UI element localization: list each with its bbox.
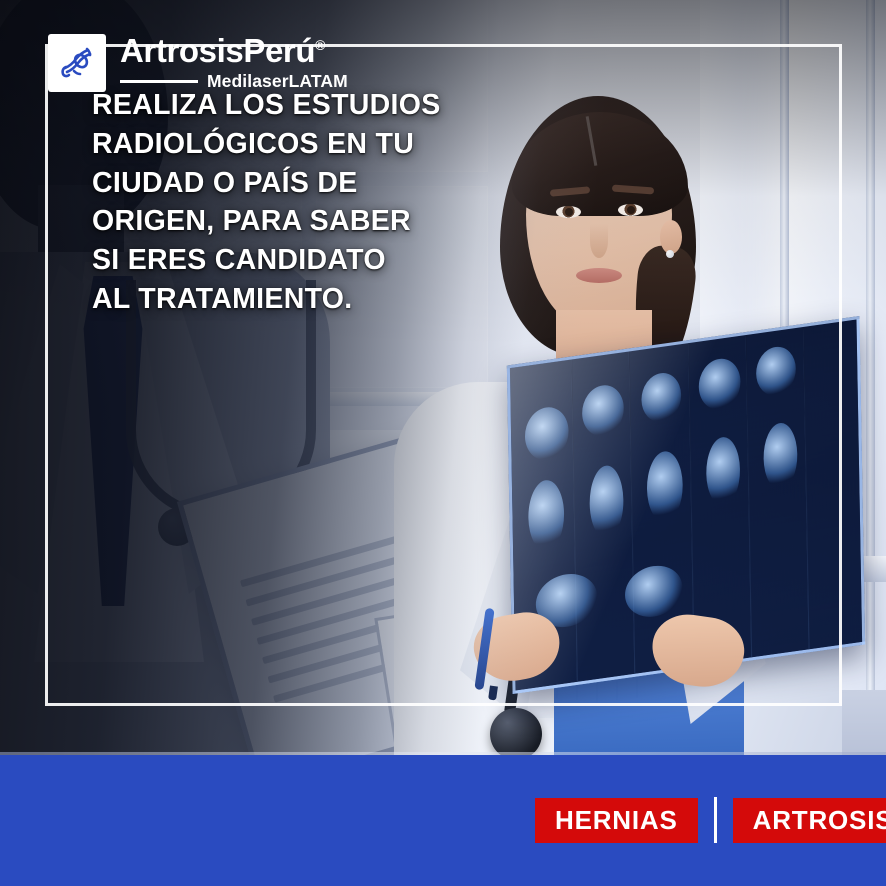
headline-line-2: RADIOLÓGICOS EN TU [92,125,472,164]
promo-poster: REALIZA LOS ESTUDIOS RADIOLÓGICOS EN TU … [0,0,886,886]
brand-logo[interactable]: ArtrosisPerú® MedilaserLATAM [48,34,348,92]
knee-joint-icon [48,34,106,92]
registered-mark: ® [315,37,325,53]
logo-rule [120,80,198,83]
logo-text-block: ArtrosisPerú® MedilaserLATAM [120,34,348,92]
logo-title-text: ArtrosisPerú [120,32,315,69]
logo-subtitle: MedilaserLATAM [207,71,348,92]
logo-subtitle-row: MedilaserLATAM [120,71,348,92]
headline-line-5: SI ERES CANDIDATO [92,241,472,280]
headline: REALIZA LOS ESTUDIOS RADIOLÓGICOS EN TU … [92,86,472,319]
badge-divider [714,797,717,843]
banner-top-divider [0,752,886,755]
badge-artrosis[interactable]: ARTROSIS [733,798,886,843]
headline-line-4: ORIGEN, PARA SABER [92,202,472,241]
headline-line-6: AL TRATAMIENTO. [92,280,472,319]
headline-line-3: CIUDAD O PAÍS DE [92,164,472,203]
badge-hernias[interactable]: HERNIAS [535,798,698,843]
logo-title: ArtrosisPerú® [120,34,348,68]
service-badges: HERNIAS ARTROSIS [535,797,886,843]
